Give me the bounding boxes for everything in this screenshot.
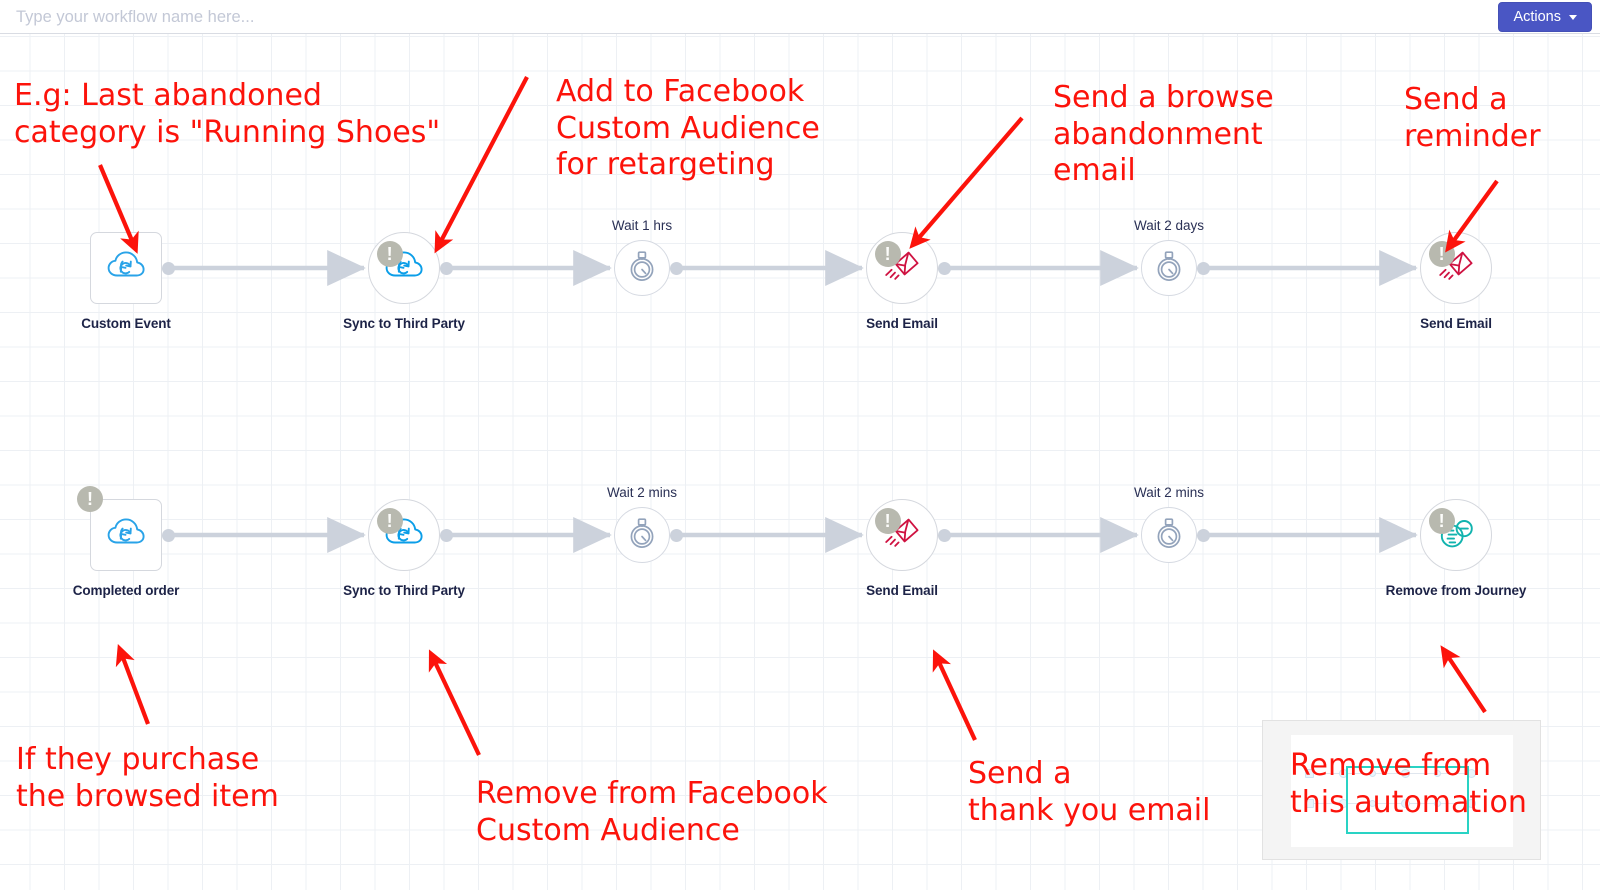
node-label: Sync to Third Party (343, 583, 465, 598)
workflow-node-r2-n2[interactable] (368, 499, 440, 571)
chevron-down-icon (1569, 15, 1577, 20)
connector-source-dot[interactable] (440, 529, 453, 542)
exclamation-icon: ! (885, 245, 891, 263)
cloud-sync-icon (106, 517, 146, 554)
workflow-canvas[interactable]: Custom EventSync to Third Party!Wait 1 h… (0, 34, 1600, 890)
wait-node-label: Wait 2 days (1134, 218, 1204, 233)
workflow-node-r1-n1[interactable] (90, 232, 162, 304)
workflow-node-r2-n5[interactable] (1141, 507, 1197, 563)
stopwatch-icon (1154, 249, 1184, 288)
node-warning-badge[interactable]: ! (1429, 241, 1455, 267)
minimap-viewport-rect[interactable] (1346, 766, 1469, 834)
connector-source-dot[interactable] (1197, 529, 1210, 542)
node-label: Sync to Third Party (343, 316, 465, 331)
node-warning-badge[interactable]: ! (1429, 508, 1455, 534)
exclamation-icon: ! (87, 490, 93, 508)
workflow-node-r2-n6[interactable] (1420, 499, 1492, 571)
workflow-node-r1-n2[interactable] (368, 232, 440, 304)
minimap-panel[interactable] (1262, 720, 1541, 860)
workflow-name-input[interactable] (14, 3, 634, 31)
workflow-builder-app: Actions Custom EventSync to Third Party!… (0, 0, 1600, 890)
workflow-node-r2-n1[interactable] (90, 499, 162, 571)
exclamation-icon: ! (387, 245, 393, 263)
wait-node-label: Wait 1 hrs (612, 218, 672, 233)
connector-source-dot[interactable] (440, 262, 453, 275)
node-warning-badge[interactable]: ! (875, 508, 901, 534)
stopwatch-icon (627, 249, 657, 288)
connector-source-dot[interactable] (938, 262, 951, 275)
workflow-node-r1-n4[interactable] (866, 232, 938, 304)
node-label: Send Email (866, 316, 938, 331)
node-label: Send Email (866, 583, 938, 598)
stopwatch-icon (627, 516, 657, 555)
connector-source-dot[interactable] (670, 529, 683, 542)
exclamation-icon: ! (1439, 512, 1445, 530)
cloud-sync-icon (106, 250, 146, 287)
node-label: Custom Event (81, 316, 171, 331)
app-header: Actions (0, 0, 1600, 34)
workflow-node-r1-n5[interactable] (1141, 240, 1197, 296)
connector-source-dot[interactable] (1197, 262, 1210, 275)
node-warning-badge[interactable]: ! (377, 241, 403, 267)
node-label: Remove from Journey (1386, 583, 1527, 598)
workflow-node-r1-n3[interactable] (614, 240, 670, 296)
exclamation-icon: ! (1439, 245, 1445, 263)
node-warning-badge[interactable]: ! (875, 241, 901, 267)
workflow-node-r2-n4[interactable] (866, 499, 938, 571)
node-warning-badge[interactable]: ! (377, 508, 403, 534)
wait-node-label: Wait 2 mins (1134, 485, 1204, 500)
connector-source-dot[interactable] (162, 262, 175, 275)
exclamation-icon: ! (885, 512, 891, 530)
minimap-canvas (1291, 735, 1513, 847)
node-label: Completed order (73, 583, 180, 598)
workflow-node-r2-n3[interactable] (614, 507, 670, 563)
connector-source-dot[interactable] (938, 529, 951, 542)
node-warning-badge[interactable]: ! (77, 486, 103, 512)
minimap-node (1305, 769, 1314, 778)
exclamation-icon: ! (387, 512, 393, 530)
workflow-node-r1-n6[interactable] (1420, 232, 1492, 304)
wait-node-label: Wait 2 mins (607, 485, 677, 500)
stopwatch-icon (1154, 516, 1184, 555)
minimap-node (1305, 799, 1314, 808)
connector-source-dot[interactable] (670, 262, 683, 275)
actions-button[interactable]: Actions (1498, 2, 1592, 32)
actions-button-label: Actions (1513, 9, 1561, 25)
connector-source-dot[interactable] (162, 529, 175, 542)
node-label: Send Email (1420, 316, 1492, 331)
